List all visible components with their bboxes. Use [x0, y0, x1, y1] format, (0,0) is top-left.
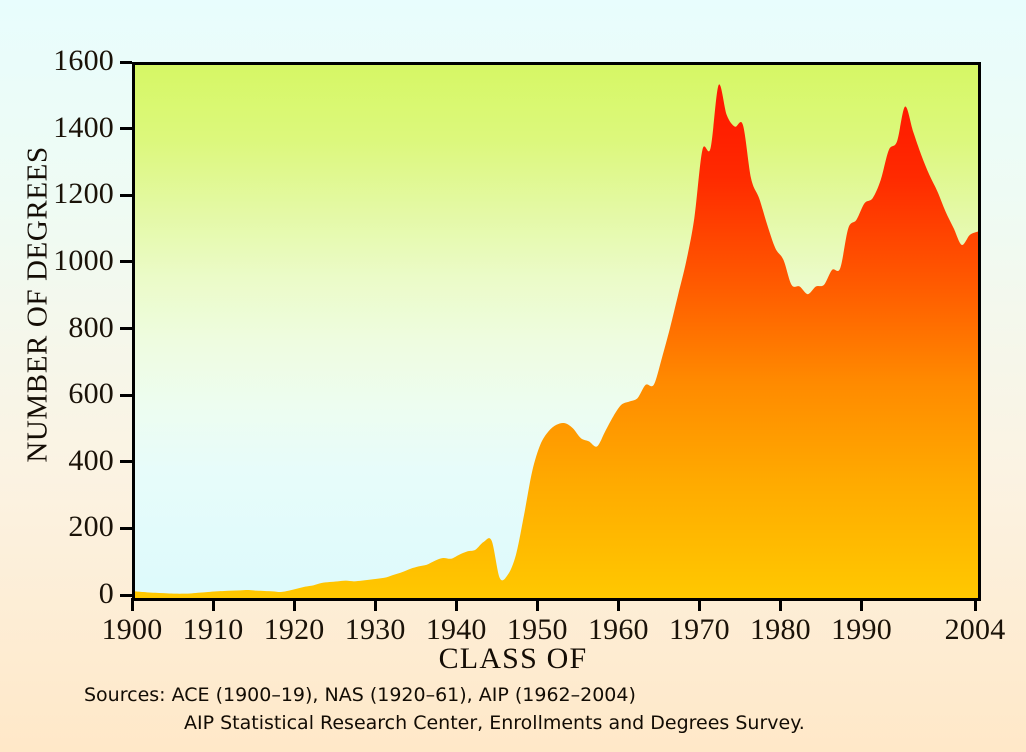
x-tick-label: 1980 — [750, 615, 811, 645]
x-tick-label: 1970 — [669, 615, 730, 645]
x-tick-label: 1960 — [588, 615, 649, 645]
y-tick-mark — [120, 127, 132, 130]
y-tick-mark — [120, 527, 132, 530]
y-tick-label: 0 — [99, 579, 114, 609]
y-tick-mark — [120, 61, 132, 64]
y-tick-label: 1600 — [53, 46, 114, 76]
y-tick-mark — [120, 260, 132, 263]
x-tick-label: 1900 — [102, 615, 163, 645]
x-axis-title: CLASS OF — [0, 642, 1026, 676]
sources-line-2: AIP Statistical Research Center, Enrollm… — [0, 710, 1026, 738]
y-axis-title: NUMBER OF DEGREES — [22, 35, 55, 575]
x-tick-mark — [617, 598, 620, 611]
area-series-svg — [135, 65, 978, 598]
x-tick-label: 1930 — [345, 615, 406, 645]
x-tick-mark — [212, 598, 215, 611]
x-tick-label: 1920 — [264, 615, 325, 645]
y-tick-label: 400 — [68, 446, 114, 476]
x-tick-mark — [536, 598, 539, 611]
chart-figure: 02004006008001000120014001600 1900191019… — [0, 0, 1026, 752]
x-tick-label: 1940 — [426, 615, 487, 645]
x-tick-mark — [860, 598, 863, 611]
x-tick-mark — [779, 598, 782, 611]
x-tick-mark — [374, 598, 377, 611]
x-tick-label: 1910 — [183, 615, 244, 645]
x-tick-label: 1990 — [831, 615, 892, 645]
sources-line-1: Sources: ACE (1900–19), NAS (1920–61), A… — [0, 682, 1026, 710]
y-tick-label: 600 — [68, 379, 114, 409]
y-tick-label: 200 — [68, 512, 114, 542]
sources-note: Sources: ACE (1900–19), NAS (1920–61), A… — [0, 682, 1026, 737]
y-tick-mark — [120, 194, 132, 197]
x-tick-label: 1950 — [507, 615, 568, 645]
x-tick-mark — [698, 598, 701, 611]
x-tick-mark — [974, 598, 977, 611]
y-tick-label: 1200 — [53, 179, 114, 209]
plot-area — [132, 62, 981, 601]
y-tick-mark — [120, 594, 132, 597]
x-tick-label: 2004 — [945, 615, 1006, 645]
y-tick-mark — [120, 394, 132, 397]
y-tick-label: 800 — [68, 313, 114, 343]
y-tick-label: 1400 — [53, 113, 114, 143]
y-tick-mark — [120, 327, 132, 330]
x-tick-mark — [131, 598, 134, 611]
y-tick-mark — [120, 460, 132, 463]
x-tick-mark — [293, 598, 296, 611]
x-tick-mark — [455, 598, 458, 611]
degrees-area-path — [135, 84, 978, 598]
y-tick-label: 1000 — [53, 246, 114, 276]
